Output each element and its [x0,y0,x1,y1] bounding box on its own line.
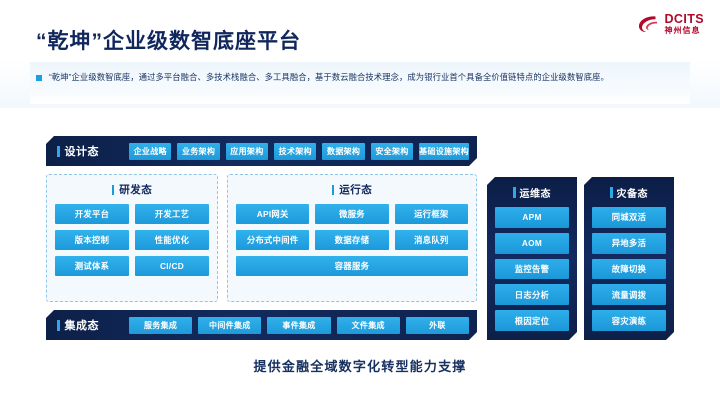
rd-cell-0-1[interactable]: 开发工艺 [135,204,209,224]
dr-item-1[interactable]: 异地多活 [592,233,666,254]
run-cell-1-2[interactable]: 消息队列 [395,230,468,250]
integration-state-label-group: 集成态 [57,317,129,333]
rd-cell-1-0[interactable]: 版本控制 [55,230,129,250]
rd-grid-row: 测试体系 CI/CD [55,256,209,276]
run-cell-1-0[interactable]: 分布式中间件 [236,230,309,250]
rd-state-grid: 开发平台 开发工艺 版本控制 性能优化 测试体系 CI/CD [55,204,209,293]
integration-chip-4[interactable]: 外联 [406,317,469,334]
accent-tick-icon [112,185,115,195]
dr-state-title-group: 灾备态 [592,185,666,200]
ops-state-list: APM AOM 监控告警 日志分析 根因定位 [495,207,569,331]
page-title: “乾坤”企业级数智底座平台 [36,25,301,55]
accent-tick-icon [513,187,516,198]
integration-chip-2[interactable]: 事件集成 [267,317,330,334]
logo-en-text: DCITS [665,13,705,26]
dr-item-2[interactable]: 故障切换 [592,259,666,280]
logo-cn-text: 神州信息 [665,27,705,35]
rd-state-panel: 研发态 开发平台 开发工艺 版本控制 性能优化 测试体系 [46,174,218,302]
design-state-label: 设计态 [65,143,100,159]
ops-item-2[interactable]: 监控告警 [495,259,569,280]
run-state-label: 运行态 [339,182,372,197]
integration-state-chips: 服务集成 中间件集成 事件集成 文件集成 外联 [129,317,477,334]
design-chip-4[interactable]: 数据架构 [322,143,364,160]
subtitle-band [30,62,690,104]
dr-item-3[interactable]: 流量调拨 [592,284,666,305]
logo-wordmark: DCITS 神州信息 [665,13,705,36]
rd-grid-row: 开发平台 开发工艺 [55,204,209,224]
accent-tick-icon [332,185,335,195]
run-state-title-group: 运行态 [236,182,468,197]
rd-cell-2-0[interactable]: 测试体系 [55,256,129,276]
middle-panels: 研发态 开发平台 开发工艺 版本控制 性能优化 测试体系 [46,174,477,302]
integration-chip-1[interactable]: 中间件集成 [198,317,261,334]
architecture-diagram: 设计态 企业战略 业务架构 应用架构 技术架构 数据架构 安全架构 基础设施架构 [46,136,674,340]
design-state-label-group: 设计态 [57,143,129,159]
design-chip-2[interactable]: 应用架构 [226,143,268,160]
design-chip-1[interactable]: 业务架构 [177,143,219,160]
dr-state-list: 同城双活 异地多活 故障切换 流量调拨 容灾演练 [592,207,666,331]
subtitle-row: “乾坤”企业级数智底座，通过多平台融合、多技术栈融合、多工具融合，基于数云融合技… [36,72,686,83]
dcits-swirl-icon [636,12,660,36]
run-cell-1-1[interactable]: 数据存储 [315,230,388,250]
ops-item-1[interactable]: AOM [495,233,569,254]
integration-chip-3[interactable]: 文件集成 [337,317,400,334]
design-chip-6[interactable]: 基础设施架构 [419,143,469,160]
ops-state-column: 运维态 APM AOM 监控告警 日志分析 根因定位 [487,177,577,340]
design-state-row: 设计态 企业战略 业务架构 应用架构 技术架构 数据架构 安全架构 基础设施架构 [46,136,477,166]
integration-chip-0[interactable]: 服务集成 [129,317,192,334]
ops-state-title-group: 运维态 [495,185,569,200]
design-chip-5[interactable]: 安全架构 [371,143,413,160]
dr-item-0[interactable]: 同城双活 [592,207,666,228]
run-state-panel: 运行态 API网关 微服务 运行框架 分布式中间件 数据存储 消息队列 [227,174,477,302]
accent-tick-icon [57,320,60,331]
design-chip-0[interactable]: 企业战略 [129,143,171,160]
run-cell-0-0[interactable]: API网关 [236,204,309,224]
rd-cell-0-0[interactable]: 开发平台 [55,204,129,224]
run-grid-row: 分布式中间件 数据存储 消息队列 [236,230,468,250]
footer-caption: 提供金融全域数字化转型能力支撑 [0,356,720,375]
ops-state-label: 运维态 [520,185,552,200]
accent-tick-icon [610,187,613,198]
design-state-chips: 企业战略 业务架构 应用架构 技术架构 数据架构 安全架构 基础设施架构 [129,143,477,160]
rd-grid-row: 版本控制 性能优化 [55,230,209,250]
slide-root: “乾坤”企业级数智底座平台 “乾坤”企业级数智底座，通过多平台融合、多技术栈融合… [0,0,720,405]
integration-state-row: 集成态 服务集成 中间件集成 事件集成 文件集成 外联 [46,310,477,340]
dr-item-4[interactable]: 容灾演练 [592,310,666,331]
diagram-left-column: 设计态 企业战略 业务架构 应用架构 技术架构 数据架构 安全架构 基础设施架构 [46,136,477,340]
accent-tick-icon [57,146,60,157]
run-cell-0-2[interactable]: 运行框架 [395,204,468,224]
ops-item-3[interactable]: 日志分析 [495,284,569,305]
ops-item-4[interactable]: 根因定位 [495,310,569,331]
run-cell-2-0[interactable]: 容器服务 [236,256,468,276]
dr-state-column: 灾备态 同城双活 异地多活 故障切换 流量调拨 容灾演练 [584,177,674,340]
ops-item-0[interactable]: APM [495,207,569,228]
square-bullet-icon [36,75,42,81]
run-cell-0-1[interactable]: 微服务 [315,204,388,224]
rd-cell-2-1[interactable]: CI/CD [135,256,209,276]
subtitle-text: “乾坤”企业级数智底座，通过多平台融合、多技术栈融合、多工具融合，基于数云融合技… [49,72,609,83]
run-grid-row: API网关 微服务 运行框架 [236,204,468,224]
dr-state-label: 灾备态 [617,185,649,200]
rd-cell-1-1[interactable]: 性能优化 [135,230,209,250]
design-chip-3[interactable]: 技术架构 [274,143,316,160]
rd-state-title-group: 研发态 [55,182,209,197]
rd-state-label: 研发态 [119,182,152,197]
integration-state-label: 集成态 [65,317,100,333]
brand-logo: DCITS 神州信息 [636,12,705,36]
run-grid-row: 容器服务 [236,256,468,276]
run-state-grid: API网关 微服务 运行框架 分布式中间件 数据存储 消息队列 容器服务 [236,204,468,293]
